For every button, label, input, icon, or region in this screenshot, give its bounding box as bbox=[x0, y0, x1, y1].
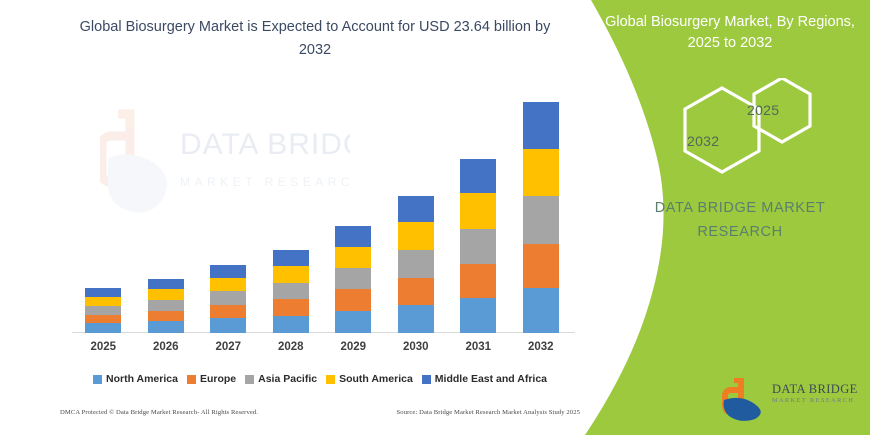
bar-segment-south-america[interactable] bbox=[85, 297, 121, 306]
legend-swatch-icon bbox=[326, 375, 335, 384]
bar-segment-north-america[interactable] bbox=[335, 311, 371, 333]
bar-segment-middle-east-and-africa[interactable] bbox=[460, 159, 496, 193]
bar-segment-south-america[interactable] bbox=[335, 247, 371, 268]
footer-copyright: DMCA Protected © Data Bridge Market Rese… bbox=[60, 409, 258, 416]
bar-segment-north-america[interactable] bbox=[273, 316, 309, 333]
legend-label: North America bbox=[106, 373, 178, 385]
bar-2032[interactable] bbox=[523, 102, 559, 333]
bar-segment-asia-pacific[interactable] bbox=[398, 250, 434, 277]
bar-segment-europe[interactable] bbox=[335, 289, 371, 310]
legend-swatch-icon bbox=[93, 375, 102, 384]
bar-segment-asia-pacific[interactable] bbox=[210, 291, 246, 305]
hexagon-group: 2032 2025 bbox=[662, 78, 842, 188]
bar-segment-europe[interactable] bbox=[148, 311, 184, 322]
panel-title: Global Biosurgery Market, By Regions, 20… bbox=[605, 12, 855, 54]
x-label-2028: 2028 bbox=[265, 341, 317, 353]
legend-label: South America bbox=[339, 373, 413, 385]
bar-segment-south-america[interactable] bbox=[398, 222, 434, 250]
bar-segment-south-america[interactable] bbox=[523, 149, 559, 197]
bar-segment-europe[interactable] bbox=[460, 264, 496, 298]
bar-2030[interactable] bbox=[398, 196, 434, 333]
logo-sub-text: MARKET RESEARCH bbox=[772, 396, 864, 406]
bar-segment-north-america[interactable] bbox=[460, 298, 496, 333]
hexagon-2032-shape bbox=[685, 88, 759, 172]
legend-label: Europe bbox=[200, 373, 236, 385]
bar-2027[interactable] bbox=[210, 265, 246, 333]
bar-segment-asia-pacific[interactable] bbox=[148, 300, 184, 311]
bar-segment-north-america[interactable] bbox=[210, 318, 246, 333]
legend-swatch-icon bbox=[187, 375, 196, 384]
bar-segment-middle-east-and-africa[interactable] bbox=[148, 279, 184, 290]
legend-item-south-america[interactable]: South America bbox=[326, 373, 413, 385]
legend-swatch-icon bbox=[422, 375, 431, 384]
legend-item-europe[interactable]: Europe bbox=[187, 373, 236, 385]
legend-swatch-icon bbox=[245, 375, 254, 384]
footer: DMCA Protected © Data Bridge Market Rese… bbox=[60, 409, 580, 416]
x-label-2030: 2030 bbox=[390, 341, 442, 353]
bar-segment-europe[interactable] bbox=[210, 305, 246, 319]
bar-segment-asia-pacific[interactable] bbox=[523, 196, 559, 244]
bar-segment-asia-pacific[interactable] bbox=[85, 306, 121, 315]
bar-segment-middle-east-and-africa[interactable] bbox=[85, 288, 121, 297]
logo-main-text: DATA BRIDGE bbox=[772, 382, 864, 396]
bar-segment-middle-east-and-africa[interactable] bbox=[210, 265, 246, 278]
legend-item-north-america[interactable]: North America bbox=[93, 373, 178, 385]
bar-2029[interactable] bbox=[335, 226, 371, 333]
legend-item-middle-east-and-africa[interactable]: Middle East and Africa bbox=[422, 373, 547, 385]
page-title: Global Biosurgery Market is Expected to … bbox=[70, 16, 560, 62]
bar-segment-middle-east-and-africa[interactable] bbox=[398, 196, 434, 222]
x-label-2025: 2025 bbox=[77, 341, 129, 353]
bar-2026[interactable] bbox=[148, 279, 184, 333]
bar-segment-south-america[interactable] bbox=[210, 278, 246, 292]
bar-segment-north-america[interactable] bbox=[85, 323, 121, 333]
bar-chart-plot bbox=[72, 100, 572, 333]
bar-2025[interactable] bbox=[85, 288, 121, 333]
bar-segment-europe[interactable] bbox=[398, 278, 434, 305]
bar-segment-north-america[interactable] bbox=[148, 321, 184, 333]
legend-item-asia-pacific[interactable]: Asia Pacific bbox=[245, 373, 317, 385]
x-label-2032: 2032 bbox=[515, 341, 567, 353]
bar-segment-north-america[interactable] bbox=[523, 288, 559, 333]
bar-segment-middle-east-and-africa[interactable] bbox=[523, 102, 559, 149]
bar-segment-south-america[interactable] bbox=[273, 266, 309, 283]
bar-segment-middle-east-and-africa[interactable] bbox=[335, 226, 371, 246]
bar-segment-europe[interactable] bbox=[85, 315, 121, 324]
bar-2031[interactable] bbox=[460, 159, 496, 333]
bar-segment-south-america[interactable] bbox=[460, 193, 496, 229]
x-axis-labels: 20252026202720282029203020312032 bbox=[72, 338, 572, 358]
panel-brand: DATA BRIDGE MARKET RESEARCH bbox=[625, 196, 855, 244]
footer-source: Source: Data Bridge Market Research Mark… bbox=[397, 409, 580, 416]
hexagon-2032-label: 2032 bbox=[687, 133, 719, 149]
bar-segment-south-america[interactable] bbox=[148, 289, 184, 300]
bar-segment-europe[interactable] bbox=[523, 244, 559, 289]
x-label-2031: 2031 bbox=[452, 341, 504, 353]
legend-label: Asia Pacific bbox=[258, 373, 317, 385]
bar-segment-asia-pacific[interactable] bbox=[335, 268, 371, 289]
bar-segment-asia-pacific[interactable] bbox=[273, 283, 309, 300]
x-label-2026: 2026 bbox=[140, 341, 192, 353]
bar-2028[interactable] bbox=[273, 250, 309, 333]
bar-segment-europe[interactable] bbox=[273, 299, 309, 316]
bar-segment-middle-east-and-africa[interactable] bbox=[273, 250, 309, 266]
legend-label: Middle East and Africa bbox=[435, 373, 547, 385]
x-label-2029: 2029 bbox=[327, 341, 379, 353]
x-label-2027: 2027 bbox=[202, 341, 254, 353]
data-bridge-logo: DATA BRIDGE MARKET RESEARCH bbox=[722, 378, 862, 424]
panel-brand-line1: DATA BRIDGE MARKET bbox=[625, 196, 855, 220]
bar-segment-asia-pacific[interactable] bbox=[460, 229, 496, 264]
bar-segment-north-america[interactable] bbox=[398, 305, 434, 333]
panel-brand-line2: RESEARCH bbox=[625, 220, 855, 244]
hexagon-2025-label: 2025 bbox=[747, 102, 779, 118]
infographic-canvas: Global Biosurgery Market is Expected to … bbox=[0, 0, 870, 435]
data-bridge-logo-mark bbox=[722, 378, 770, 422]
chart-legend: North AmericaEuropeAsia PacificSouth Ame… bbox=[60, 373, 580, 385]
